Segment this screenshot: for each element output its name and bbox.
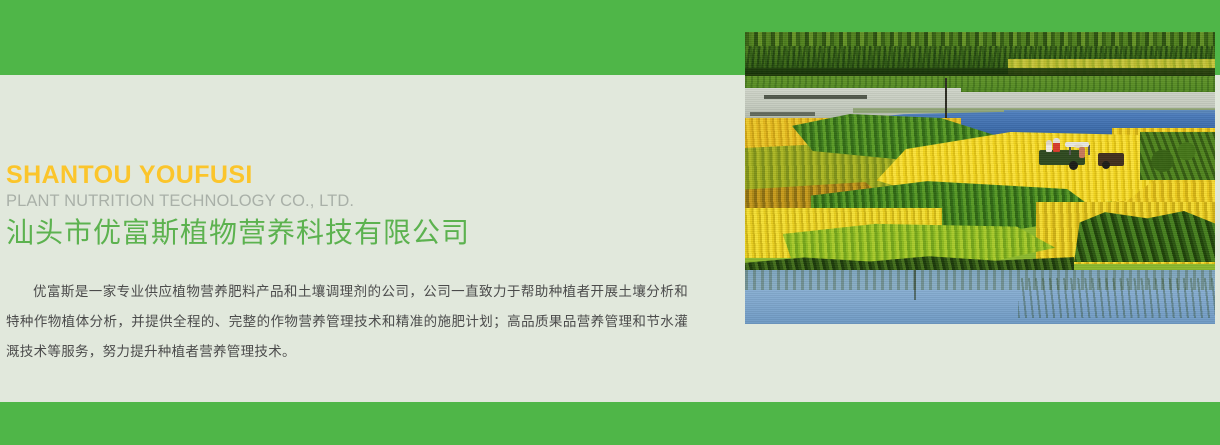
bottom-green-banner: [0, 402, 1220, 445]
photo-tractor-body: [1039, 150, 1085, 165]
brand-name-english: SHANTOU YOUFUSI: [0, 160, 720, 190]
photo-bush-right-upper: [1140, 132, 1215, 180]
photo-farmer-driver: [1079, 147, 1085, 158]
photo-road-shadow-2: [750, 112, 816, 116]
page-root: SHANTOU YOUFUSI PLANT NUTRITION TECHNOLO…: [0, 0, 1220, 445]
company-intro-column: SHANTOU YOUFUSI PLANT NUTRITION TECHNOLO…: [0, 160, 720, 367]
photo-farmer-white-shirt: [1046, 140, 1052, 152]
photo-water-pole-reflection: [914, 270, 916, 300]
rice-paddy-photo: [745, 32, 1215, 324]
photo-road-shadow-1: [764, 95, 867, 99]
photo-farmer-red-shirt: [1053, 138, 1060, 152]
photo-tractor-post-right: [1088, 145, 1090, 155]
brand-name-chinese: 汕头市优富斯植物营养科技有限公司: [0, 213, 720, 253]
photo-water-reflection-grass: [1018, 278, 1215, 318]
brand-tagline-english: PLANT NUTRITION TECHNOLOGY CO., LTD.: [0, 190, 720, 213]
photo-tree-tops: [745, 32, 1215, 46]
company-description-paragraph: 优富斯是一家专业供应植物营养肥料产品和土壤调理剂的公司，公司一直致力于帮助种植者…: [0, 277, 706, 367]
